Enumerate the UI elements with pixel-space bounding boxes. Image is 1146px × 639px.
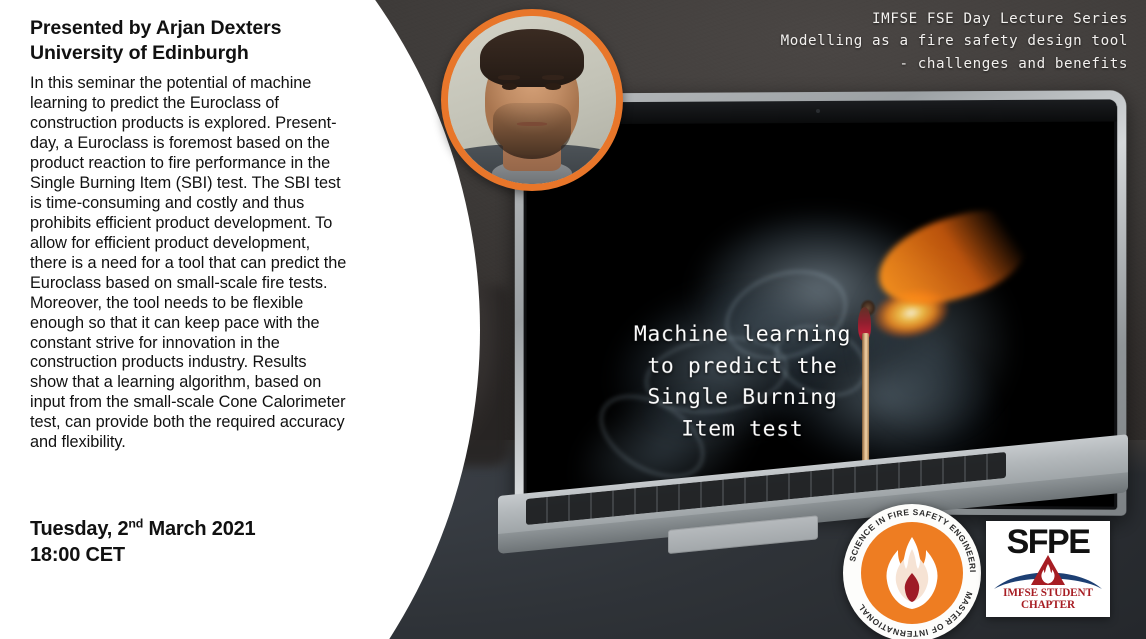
event-date-rest: March 2021 [143, 518, 255, 540]
event-date-ordinal: nd [128, 516, 143, 530]
event-date-day: Tuesday, 2 [30, 518, 128, 540]
flame-icon [879, 535, 945, 611]
left-text-column: Presented by Arjan Dexters University of… [30, 16, 348, 453]
sfpe-flame-triangle-icon [1031, 555, 1065, 585]
lecture-title-line-3: Single Burning [534, 382, 952, 415]
lecture-announcement-poster: Machine learning to predict the Single B… [0, 0, 1146, 639]
event-time: 18:00 CET [30, 542, 360, 568]
series-header-line-2: Modelling as a fire safety design tool [568, 30, 1128, 52]
lecture-title-line-2: to predict the [534, 350, 952, 382]
presenter-block: Presented by Arjan Dexters University of… [30, 16, 348, 65]
presenter-affiliation: University of Edinburgh [30, 41, 348, 66]
presenter-photo [448, 16, 616, 184]
series-header-line-1: IMFSE FSE Day Lecture Series [568, 8, 1128, 30]
sfpe-wordmark: SFPE [986, 525, 1110, 559]
lecture-title-line-4: Item test [534, 413, 952, 446]
lecture-title-line-1: Machine learning [534, 319, 952, 351]
series-header-line-3: - challenges and benefits [568, 53, 1128, 75]
sfpe-chapter-label: IMFSE STUDENT CHAPTER [986, 587, 1110, 611]
lecture-title: Machine learning to predict the Single B… [527, 319, 1115, 447]
sfpe-logo: SFPE IMFSE STUDENT CHAPTER [986, 521, 1110, 617]
event-datetime: Tuesday, 2nd March 2021 18:00 CET [30, 516, 360, 568]
presenter-name: Presented by Arjan Dexters [30, 17, 281, 39]
abstract-text: In this seminar the potential of machine… [30, 74, 348, 453]
webcam-icon [816, 109, 820, 113]
imfse-logo: SCIENCE IN FIRE SAFETY ENGINEERING MASTE… [843, 504, 981, 639]
series-header: IMFSE FSE Day Lecture Series Modelling a… [568, 8, 1128, 75]
presenter-portrait-avatar [441, 9, 623, 191]
